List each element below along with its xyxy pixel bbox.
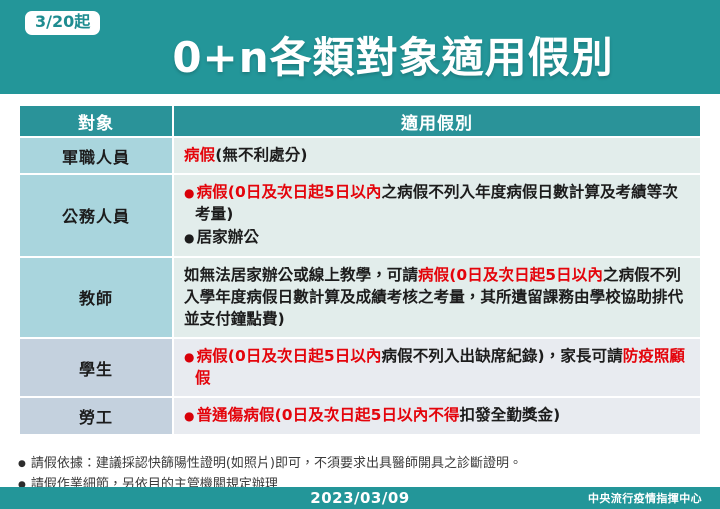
footnote-item: 請假依據：建議採認快篩陽性證明(如照片)即可，不須要求出具醫師開具之診斷證明。 [18,453,708,474]
leave-detail-line: 如無法居家辦公或線上教學，可請病假(0日及次日起5日以內之病假不列入學年度病假日… [184,264,692,330]
body-text: 扣發全勤獎金) [460,406,561,424]
body-text: (無不利處分) [215,146,307,164]
leave-types-table: 對象 適用假別 軍職人員病假(無不利處分)公務人員病假(0日及次日起5日以內之病… [18,104,702,436]
highlight-text: 病假 [184,146,215,164]
leave-detail-line: 病假(無不利處分) [184,144,692,166]
poster-root: 3/20起 0+n各類對象適用假別 對象 適用假別 軍職人員病假(無不利處分)公… [0,0,720,509]
row-subject: 勞工 [20,398,172,433]
highlight-text: 病假(0日及次日起5日以內 [197,183,382,201]
leave-detail-line: 病假(0日及次日起5日以內之病假不列入年度病假日數計算及考績等次考量) [184,181,692,225]
leave-detail-line: 居家辦公 [184,226,692,248]
table-row: 學生病假(0日及次日起5日以內病假不列入出缺席紀錄)，家長可請防疫照顧假 [20,339,700,396]
body-text: 居家辦公 [197,228,259,246]
row-leave-detail: 病假(0日及次日起5日以內之病假不列入年度病假日數計算及考績等次考量)居家辦公 [174,175,700,255]
row-subject: 教師 [20,258,172,337]
table-row: 教師如無法居家辦公或線上教學，可請病假(0日及次日起5日以內之病假不列入學年度病… [20,258,700,337]
table-header-row: 對象 適用假別 [20,106,700,136]
row-leave-detail: 如無法居家辦公或線上教學，可請病假(0日及次日起5日以內之病假不列入學年度病假日… [174,258,700,337]
row-subject: 公務人員 [20,175,172,255]
row-leave-detail: 病假(無不利處分) [174,138,700,173]
column-header-subject: 對象 [20,106,172,136]
table-body: 軍職人員病假(無不利處分)公務人員病假(0日及次日起5日以內之病假不列入年度病假… [20,138,700,434]
page-title: 0+n各類對象適用假別 [0,24,720,85]
highlight-text: 普通傷病假(0日及次日起5日以內不得 [197,406,460,424]
highlight-text: 病假(0日及次日起5日以內 [418,266,603,284]
table-row: 軍職人員病假(無不利處分) [20,138,700,173]
row-subject: 學生 [20,339,172,396]
body-text: 如無法居家辦公或線上教學，可請 [184,266,418,284]
row-subject: 軍職人員 [20,138,172,173]
row-leave-detail: 病假(0日及次日起5日以內病假不列入出缺席紀錄)，家長可請防疫照顧假 [174,339,700,396]
table-row: 勞工普通傷病假(0日及次日起5日以內不得扣發全勤獎金) [20,398,700,433]
leave-detail-line: 普通傷病假(0日及次日起5日以內不得扣發全勤獎金) [184,404,692,426]
highlight-text: 病假(0日及次日起5日以內 [197,347,382,365]
column-header-leave-type: 適用假別 [174,106,700,136]
row-leave-detail: 普通傷病假(0日及次日起5日以內不得扣發全勤獎金) [174,398,700,433]
body-text: 病假不列入出缺席紀錄)，家長可請 [382,347,623,365]
leave-detail-line: 病假(0日及次日起5日以內病假不列入出缺席紀錄)，家長可請防疫照顧假 [184,345,692,389]
footer-organization: 中央流行疫情指揮中心 [588,487,702,509]
table-row: 公務人員病假(0日及次日起5日以內之病假不列入年度病假日數計算及考績等次考量)居… [20,175,700,255]
